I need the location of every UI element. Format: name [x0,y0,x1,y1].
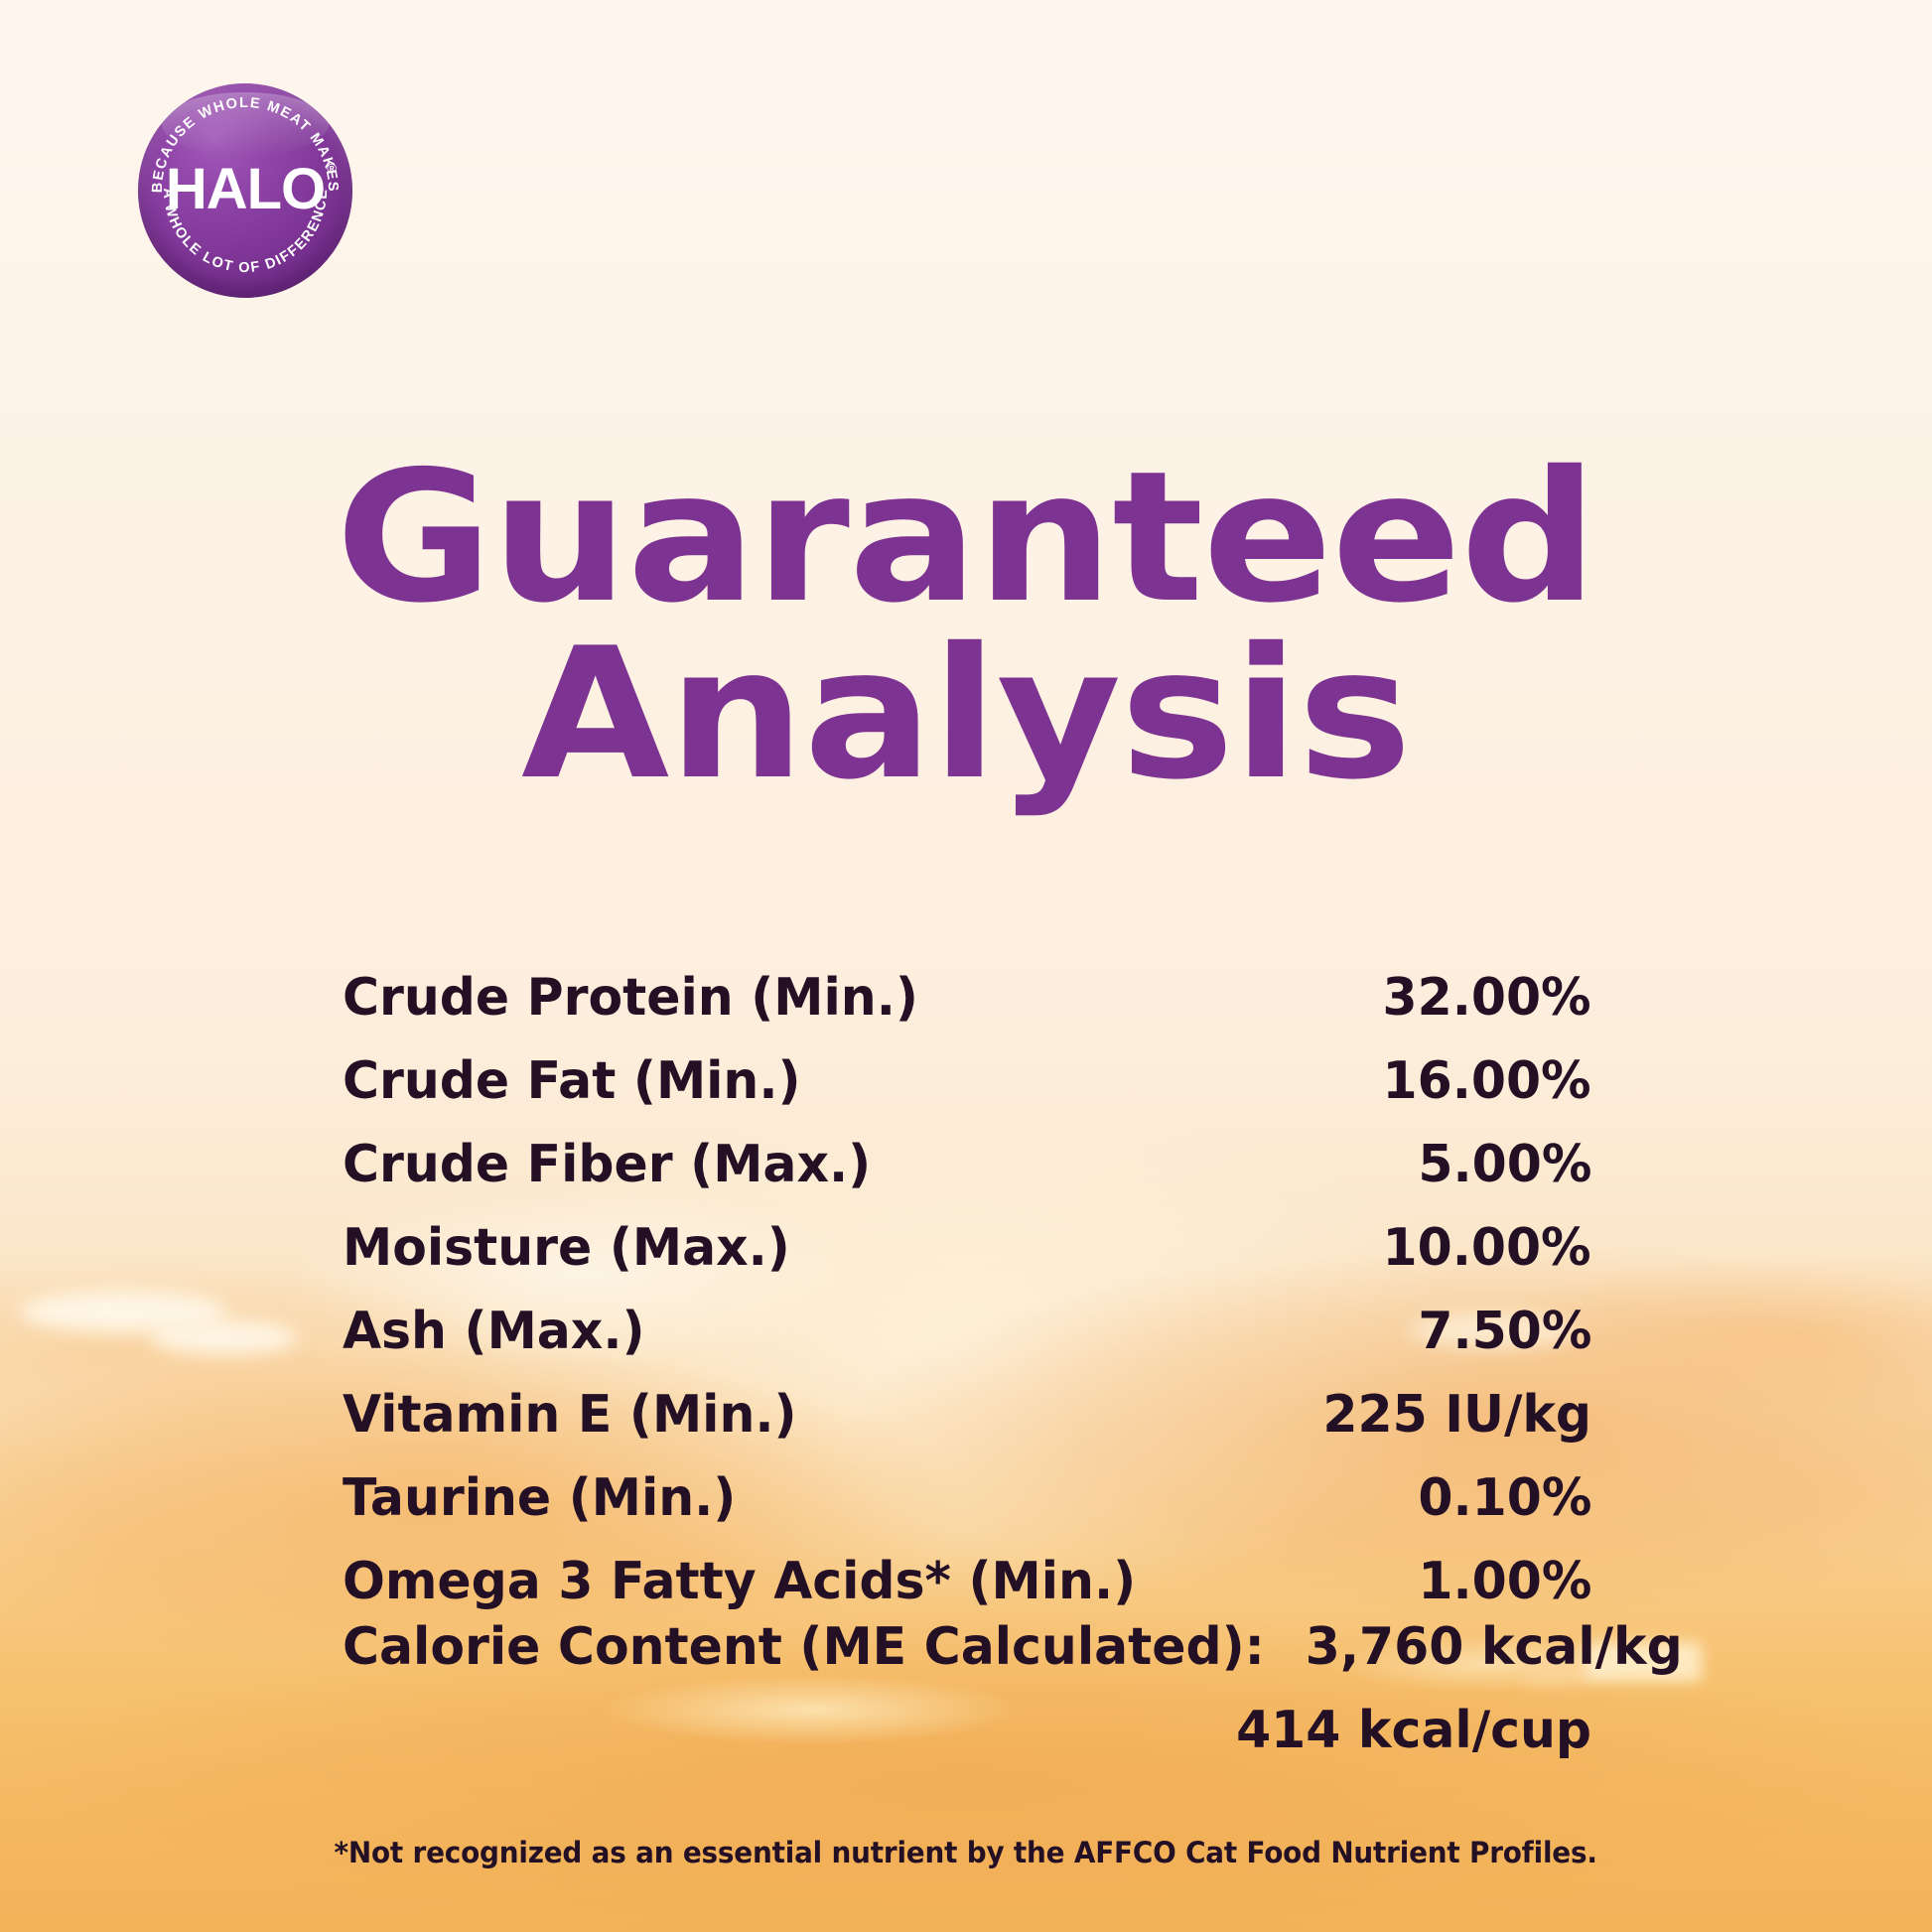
table-row: Ash (Max.)7.50% [343,1290,1591,1373]
halo-logo[interactable]: BECAUSE WHOLE MEAT MAKES A WHOLE LOT OF … [138,83,352,298]
calorie-content-row-cup: 414 kcal/cup [343,1689,1591,1772]
guaranteed-analysis-panel: BECAUSE WHOLE MEAT MAKES A WHOLE LOT OF … [0,0,1932,1932]
nutrient-value: 5.00% [1418,1123,1591,1206]
calorie-content-block: Calorie Content (ME Calculated): 3,760 k… [343,1605,1591,1772]
nutrient-value: 10.00% [1383,1206,1591,1290]
page-title-line-1: Guaranteed [0,449,1932,625]
calorie-content-label: Calorie Content (ME Calculated): [343,1605,1265,1689]
calorie-content-value-cup: 414 kcal/cup [1236,1689,1591,1772]
background-cloud [149,1320,298,1354]
nutrient-label: Ash (Max.) [343,1290,645,1373]
nutrient-label: Crude Fiber (Max.) [343,1123,871,1206]
page-title: Guaranteed Analysis [0,449,1932,803]
nutrient-label: Crude Fat (Min.) [343,1039,801,1123]
nutrient-label: Crude Protein (Min.) [343,956,918,1039]
guaranteed-analysis-table: Crude Protein (Min.)32.00%Crude Fat (Min… [343,956,1591,1623]
logo-wordmark: HALO [138,161,352,218]
calorie-content-row-kg: Calorie Content (ME Calculated): 3,760 k… [343,1605,1591,1689]
registered-trademark-icon: ® [327,161,337,176]
page-title-line-2: Analysis [0,625,1932,802]
calorie-content-value-kg: 3,760 kcal/kg [1305,1605,1682,1689]
table-row: Moisture (Max.)10.00% [343,1206,1591,1290]
nutrient-label: Taurine (Min.) [343,1456,736,1540]
nutrient-value: 225 IU/kg [1322,1373,1591,1456]
nutrient-value: 16.00% [1383,1039,1591,1123]
footnote-text: *Not recognized as an essential nutrient… [335,1836,1597,1869]
footnote: *Not recognized as an essential nutrient… [0,1836,1932,1869]
table-row: Crude Fiber (Max.)5.00% [343,1123,1591,1206]
table-row: Crude Protein (Min.)32.00% [343,956,1591,1039]
table-row: Taurine (Min.)0.10% [343,1456,1591,1540]
nutrient-label: Moisture (Max.) [343,1206,790,1290]
table-row: Vitamin E (Min.)225 IU/kg [343,1373,1591,1456]
nutrient-value: 0.10% [1418,1456,1591,1540]
nutrient-value: 7.50% [1418,1290,1591,1373]
table-row: Crude Fat (Min.)16.00% [343,1039,1591,1123]
nutrient-value: 32.00% [1383,956,1591,1039]
nutrient-label: Vitamin E (Min.) [343,1373,797,1456]
